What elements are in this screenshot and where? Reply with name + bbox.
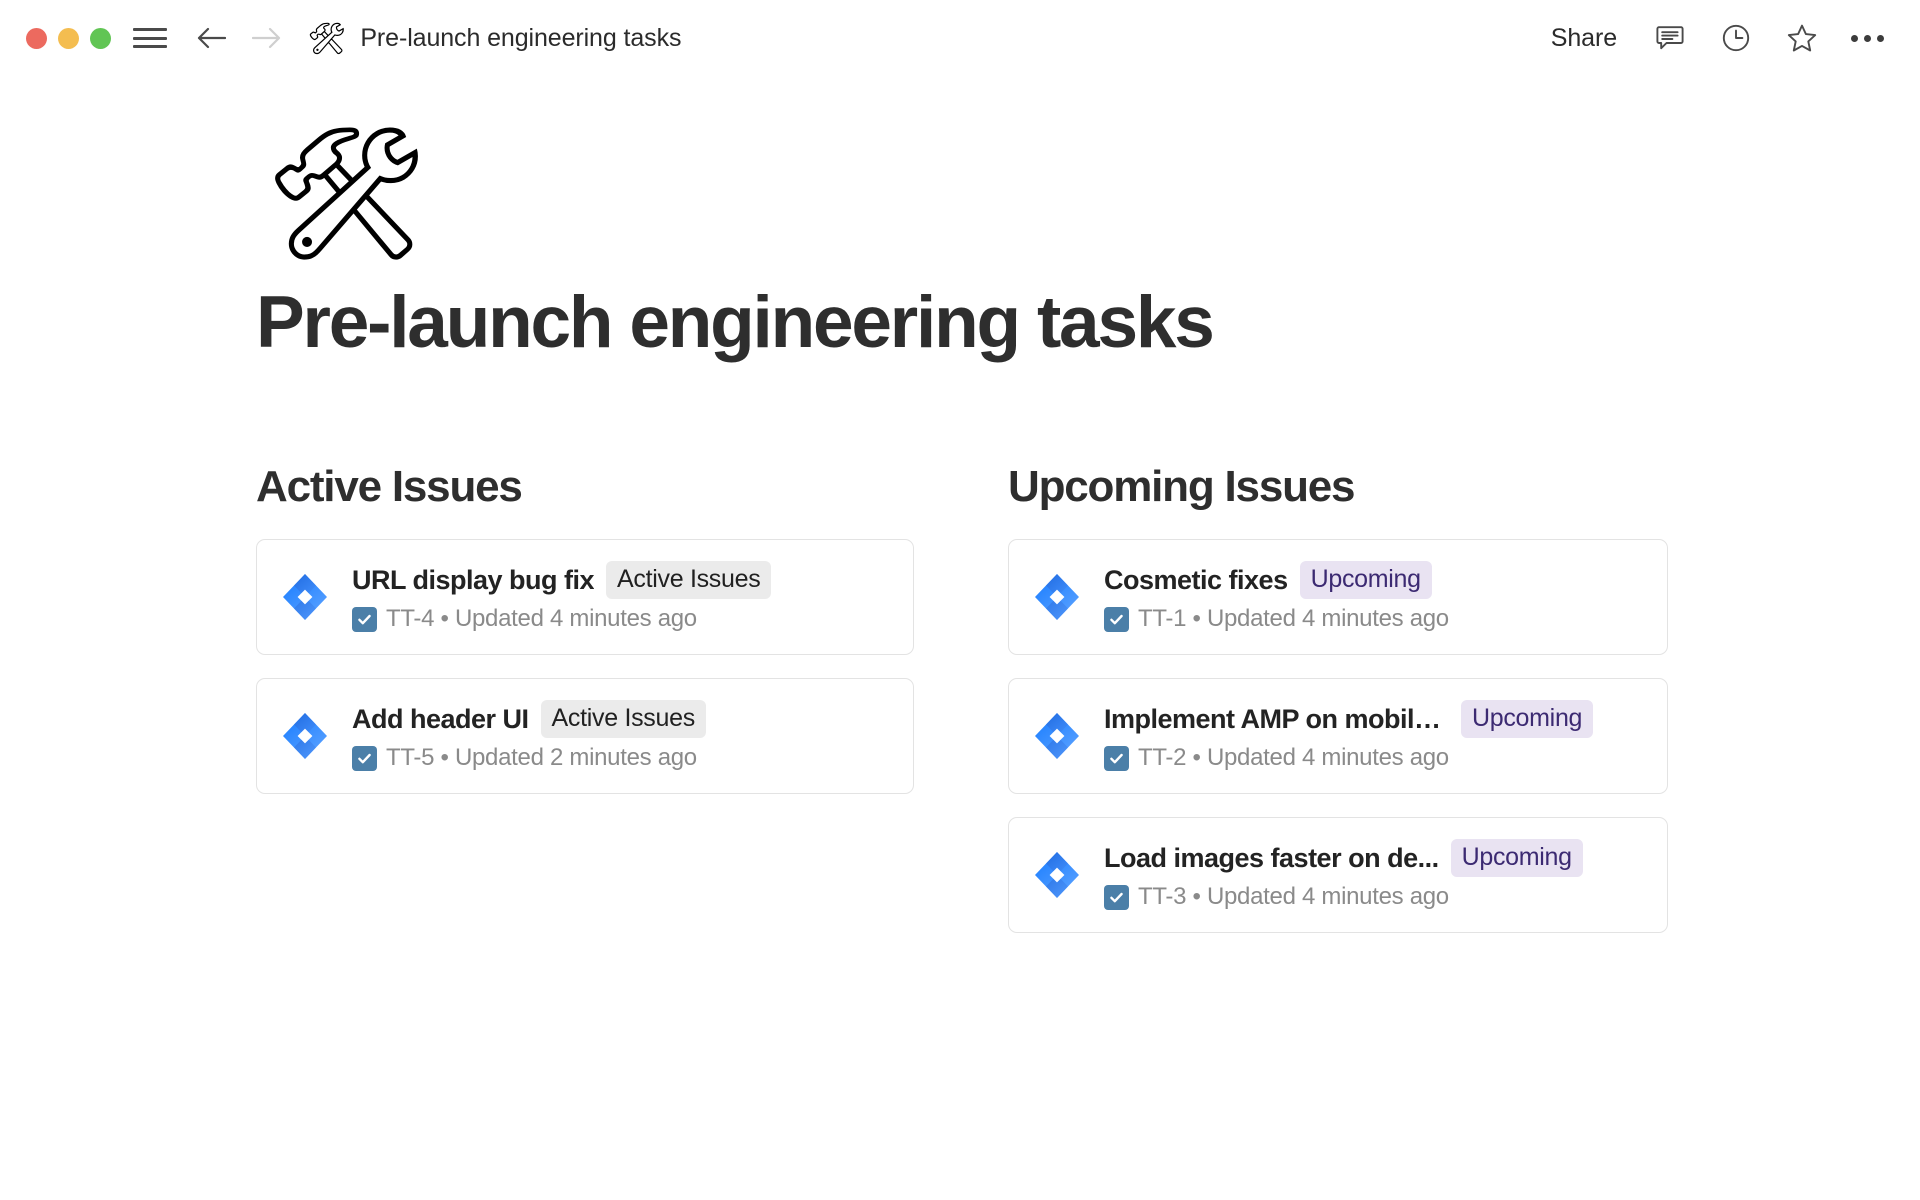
arrow-left-icon[interactable]	[191, 18, 231, 58]
issue-title: Load images faster on de...	[1104, 843, 1439, 874]
issue-meta: TT-5 • Updated 2 minutes ago	[386, 744, 697, 772]
issue-status-badge: Active Issues	[541, 700, 706, 738]
issue-card[interactable]: Implement AMP on mobile... Upcoming TT-2…	[1008, 678, 1668, 794]
jira-logo-icon	[279, 571, 331, 623]
issue-meta: TT-4 • Updated 4 minutes ago	[386, 605, 697, 633]
jira-logo-icon	[1031, 710, 1083, 762]
column-heading-upcoming: Upcoming Issues	[1008, 463, 1680, 511]
hamburger-menu-icon[interactable]	[133, 25, 167, 51]
star-icon[interactable]	[1783, 19, 1821, 57]
arrow-right-icon[interactable]	[247, 18, 287, 58]
issue-card[interactable]: Load images faster on de... Upcoming TT-…	[1008, 817, 1668, 933]
jira-logo-icon	[1031, 849, 1083, 901]
window-traffic-lights	[26, 28, 111, 49]
clock-history-icon[interactable]	[1717, 19, 1755, 57]
issue-card[interactable]: Add header UI Active Issues TT-5 • Updat…	[256, 678, 914, 794]
issue-columns: Active Issues	[256, 463, 1860, 933]
page-hammer-and-wrench-icon: 🛠	[264, 128, 1860, 258]
more-options-icon[interactable]	[1849, 29, 1886, 48]
document-page: 🛠 Pre-launch engineering tasks Active Is…	[0, 76, 1920, 933]
document-breadcrumb[interactable]: 🛠 Pre-launch engineering tasks	[307, 23, 681, 54]
column-upcoming-issues: Upcoming Issues	[1008, 463, 1680, 933]
window-minimize-button[interactable]	[58, 28, 79, 49]
issue-title: URL display bug fix	[352, 565, 594, 596]
jira-task-checkbox-icon	[352, 746, 377, 771]
column-active-issues: Active Issues	[256, 463, 1008, 794]
window-maximize-button[interactable]	[90, 28, 111, 49]
jira-task-checkbox-icon	[1104, 607, 1129, 632]
jira-task-checkbox-icon	[352, 607, 377, 632]
issue-card[interactable]: URL display bug fix Active Issues TT-4 •…	[256, 539, 914, 655]
comment-bubble-icon[interactable]	[1651, 19, 1689, 57]
card-list-upcoming: Cosmetic fixes Upcoming TT-1 • Updated 4…	[1008, 539, 1680, 933]
jira-logo-icon	[279, 710, 331, 762]
share-button[interactable]: Share	[1545, 20, 1623, 57]
card-list-active: URL display bug fix Active Issues TT-4 •…	[256, 539, 1008, 794]
column-heading-active: Active Issues	[256, 463, 1008, 511]
issue-title: Implement AMP on mobile...	[1104, 704, 1449, 735]
window-close-button[interactable]	[26, 28, 47, 49]
issue-status-badge: Upcoming	[1461, 700, 1593, 738]
issue-meta: TT-1 • Updated 4 minutes ago	[1138, 605, 1449, 633]
issue-status-badge: Active Issues	[606, 561, 771, 599]
issue-meta: TT-3 • Updated 4 minutes ago	[1138, 883, 1449, 911]
jira-task-checkbox-icon	[1104, 746, 1129, 771]
jira-task-checkbox-icon	[1104, 885, 1129, 910]
issue-card[interactable]: Cosmetic fixes Upcoming TT-1 • Updated 4…	[1008, 539, 1668, 655]
titlebar-actions: Share	[1545, 0, 1886, 76]
issue-title: Add header UI	[352, 704, 529, 735]
issue-status-badge: Upcoming	[1451, 839, 1583, 877]
issue-meta: TT-2 • Updated 4 minutes ago	[1138, 744, 1449, 772]
window-titlebar: 🛠 Pre-launch engineering tasks Share	[0, 0, 1920, 76]
issue-title: Cosmetic fixes	[1104, 565, 1288, 596]
page-title: Pre-launch engineering tasks	[256, 284, 1860, 363]
issue-status-badge: Upcoming	[1300, 561, 1432, 599]
jira-logo-icon	[1031, 571, 1083, 623]
navigation-arrows	[191, 18, 287, 58]
document-title-text: Pre-launch engineering tasks	[360, 24, 681, 53]
hammer-and-wrench-icon: 🛠	[307, 23, 346, 54]
